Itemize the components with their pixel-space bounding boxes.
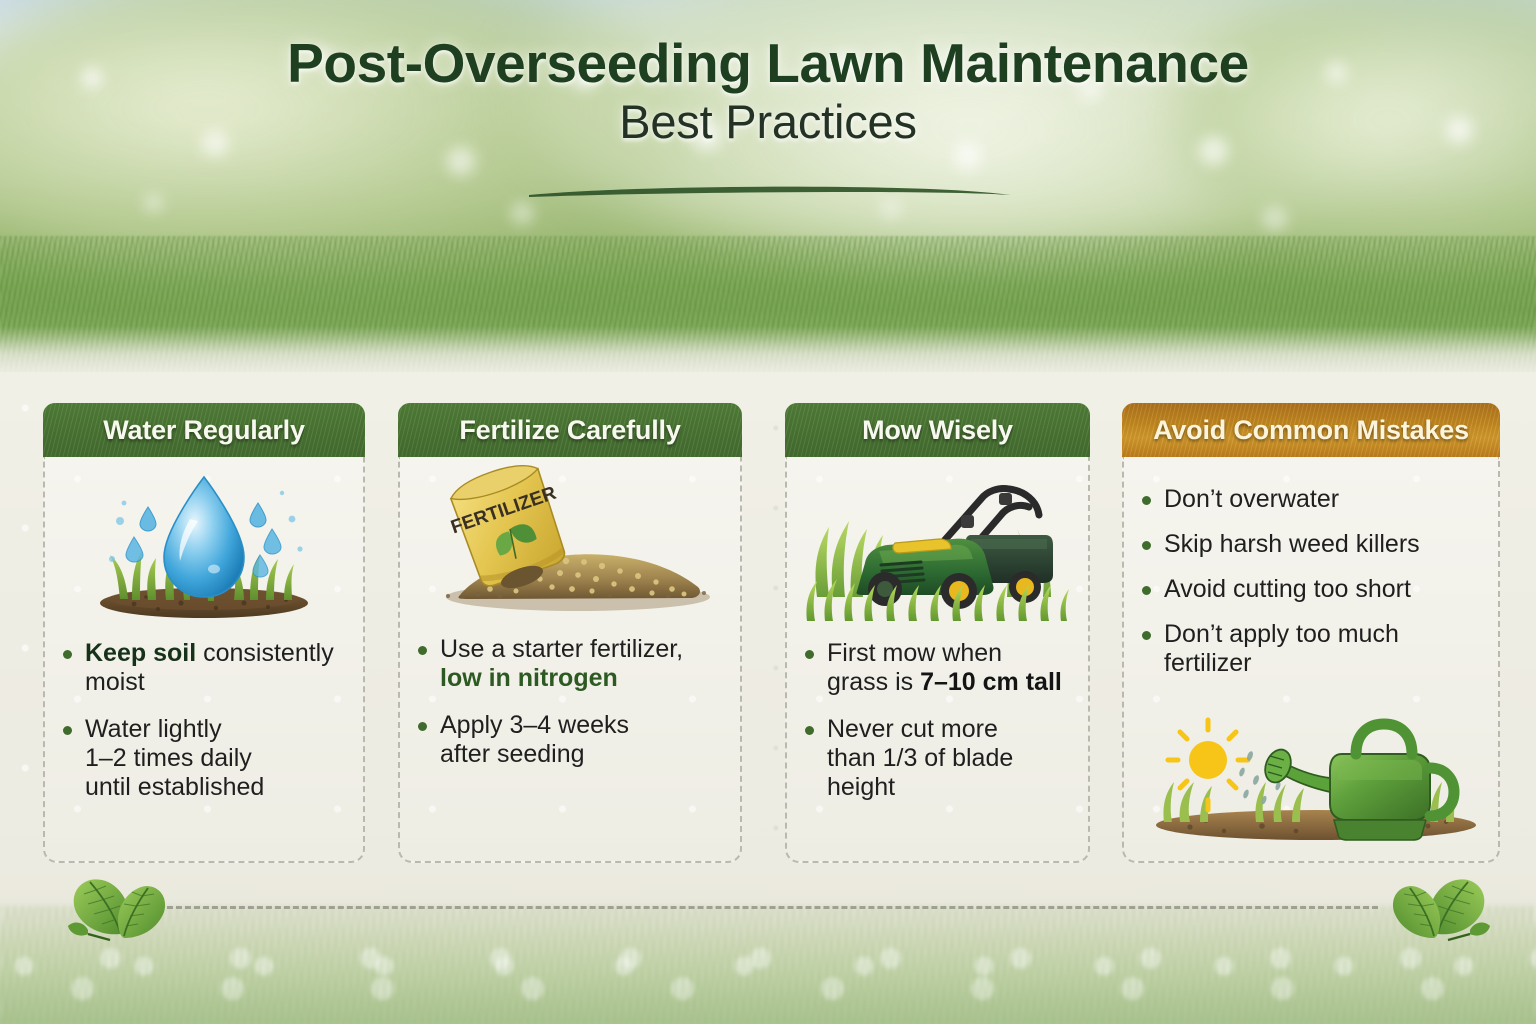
list-item: First mow whengrass is 7–10 cm tall [799,639,1076,697]
card-title-mow: Mow Wisely [862,415,1013,446]
footer-grass-band [0,876,1536,1024]
footer-divider [158,906,1378,909]
page-title: Post-Overseeding Lawn Maintenance Best P… [0,34,1536,151]
infographic-canvas: Post-Overseeding Lawn Maintenance Best P… [0,0,1536,1024]
card-water-regularly[interactable]: Water Regularly [43,403,365,863]
card-header-mow: Mow Wisely [785,403,1090,457]
list-item: Skip harsh weed killers [1136,530,1486,559]
title-line-1: Post-Overseeding Lawn Maintenance [0,34,1536,92]
list-item: Don’t apply too muchfertilizer [1136,620,1486,678]
card-bullets-mistakes: Don’t overwater Skip harsh weed killers … [1136,485,1486,678]
card-bullets-fertilize: Use a starter fertilizer,low in nitrogen… [412,635,728,769]
list-item: Keep soil consistently moist [57,639,351,697]
card-body-fertilize: FERTILIZER Use a starter fertilizer,low … [398,457,742,863]
fertilizer-bag-icon: FERTILIZER [420,463,720,619]
title-line-2: Best Practices [0,94,1536,150]
title-underline-swoosh [527,184,1013,200]
card-body-mistakes: Don’t overwater Skip harsh weed killers … [1122,457,1500,863]
card-header-water: Water Regularly [43,403,365,457]
card-title-water: Water Regularly [103,415,305,446]
list-item: Avoid cutting too short [1136,575,1486,604]
card-bullets-mow: First mow whengrass is 7–10 cm tall Neve… [799,639,1076,802]
card-title-fertilize: Fertilize Carefully [459,415,680,446]
cards-row: Water Regularly [0,403,1536,863]
card-mow-wisely[interactable]: Mow Wisely [785,403,1090,863]
watering-can-icon [1146,694,1476,844]
list-item: Water lightly1–2 times dailyuntil establ… [57,715,351,802]
list-item: Apply 3–4 weeksafter seeding [412,711,728,769]
card-bullets-water: Keep soil consistently moist Water light… [57,639,351,802]
hero-bottom-fade [0,326,1536,378]
card-title-mistakes: Avoid Common Mistakes [1153,415,1469,446]
list-item: Never cut morethan 1/3 of bladeheight [799,715,1076,802]
card-body-mow: First mow whengrass is 7–10 cm tall Neve… [785,457,1090,863]
card-body-water: Keep soil consistently moist Water light… [43,457,365,863]
lawn-mower-icon [803,463,1073,623]
card-header-mistakes: Avoid Common Mistakes [1122,403,1500,457]
card-fertilize-carefully[interactable]: Fertilize Carefully [398,403,742,863]
water-droplet-icon [86,463,322,623]
footer-turf-texture [0,906,1536,1024]
list-item: Don’t overwater [1136,485,1486,514]
leaf-pair-icon-left [62,872,172,944]
card-header-fertilize: Fertilize Carefully [398,403,742,457]
leaf-pair-icon-right [1386,872,1496,944]
list-item: Use a starter fertilizer,low in nitrogen [412,635,728,693]
card-avoid-common-mistakes[interactable]: Avoid Common Mistakes Don’t overwater Sk… [1122,403,1500,863]
